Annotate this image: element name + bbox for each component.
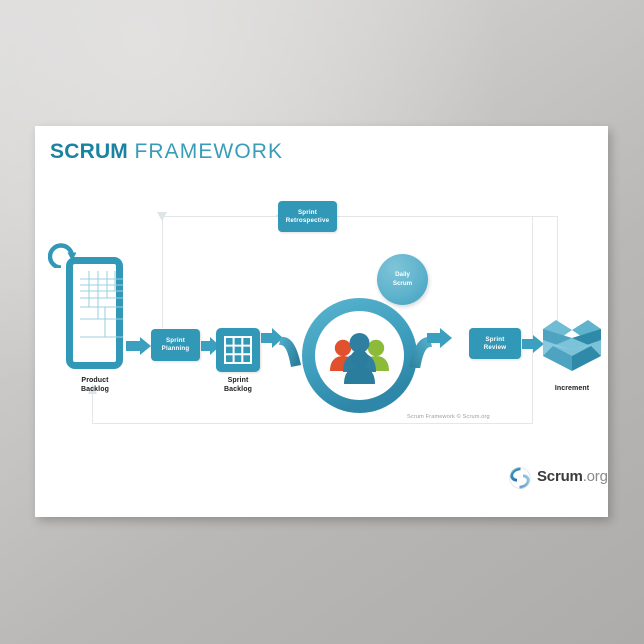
connector-bottom bbox=[92, 423, 533, 424]
arrow-team-to-review bbox=[407, 324, 469, 368]
sprint-planning-label-line1: Sprint bbox=[166, 337, 185, 344]
logo-wordmark: Scrum.org bbox=[537, 468, 608, 485]
refresh-arrow-icon bbox=[48, 240, 76, 268]
arrow-review-to-increment bbox=[522, 335, 545, 353]
sprint-review-label-line1: Sprint bbox=[485, 336, 504, 343]
sprint-backlog-caption: Sprint Backlog bbox=[203, 376, 273, 394]
title-light-word: FRAMEWORK bbox=[134, 140, 283, 163]
increment-artifact[interactable] bbox=[543, 316, 601, 378]
connector-right-down bbox=[557, 216, 558, 326]
product-backlog-artifact[interactable] bbox=[66, 257, 123, 369]
sprint-planning-event[interactable]: Sprint Planning bbox=[151, 329, 200, 361]
connector-top-right bbox=[337, 216, 558, 217]
logo-tld: .org bbox=[583, 468, 608, 485]
title-bold-word: SCRUM bbox=[50, 140, 128, 163]
sprint-planning-label-line2: Planning bbox=[162, 345, 190, 352]
increment-caption: Increment bbox=[532, 384, 612, 393]
sprint-backlog-caption-line2: Backlog bbox=[224, 386, 252, 393]
product-backlog-caption-line2: Backlog bbox=[81, 386, 109, 393]
scrum-swirl-icon bbox=[507, 465, 533, 491]
arrow-backlog-to-planning bbox=[126, 337, 152, 355]
copyright-notice: Scrum Framework © Scrum.org bbox=[407, 414, 490, 420]
daily-scrum-label-line1: Daily bbox=[395, 271, 410, 278]
connector-bottom-right-up bbox=[532, 366, 533, 424]
sprint-review-event[interactable]: Sprint Review bbox=[469, 328, 521, 359]
poster-stage: SCRUM FRAMEWORK bbox=[0, 0, 644, 644]
sprint-retrospective-label-line1: Sprint bbox=[298, 209, 317, 216]
sprint-backlog-caption-line1: Sprint bbox=[228, 377, 249, 384]
poster-sheet: SCRUM FRAMEWORK bbox=[35, 126, 608, 517]
sprint-backlog-artifact[interactable] bbox=[216, 328, 260, 372]
increment-caption-line1: Increment bbox=[555, 385, 589, 392]
product-backlog-caption-line1: Product bbox=[81, 377, 108, 384]
page-title: SCRUM FRAMEWORK bbox=[50, 140, 283, 164]
scrum-team-group[interactable]: 1 Scrum Team bbox=[297, 293, 422, 418]
daily-scrum-event[interactable]: Daily Scrum bbox=[377, 254, 428, 305]
sprint-retrospective-label-line2: Retrospective bbox=[286, 217, 330, 224]
logo-name: Scrum bbox=[537, 468, 583, 485]
connector-planning-up bbox=[162, 216, 163, 328]
connector-top-left bbox=[162, 216, 278, 217]
daily-scrum-label-line2: Scrum bbox=[393, 280, 412, 287]
sprint-retrospective-event[interactable]: Sprint Retrospective bbox=[278, 201, 337, 232]
scrum-org-logo[interactable]: Scrum.org bbox=[507, 464, 607, 494]
product-backlog-caption: Product Backlog bbox=[60, 376, 130, 394]
sprint-review-label-line2: Review bbox=[484, 344, 507, 351]
